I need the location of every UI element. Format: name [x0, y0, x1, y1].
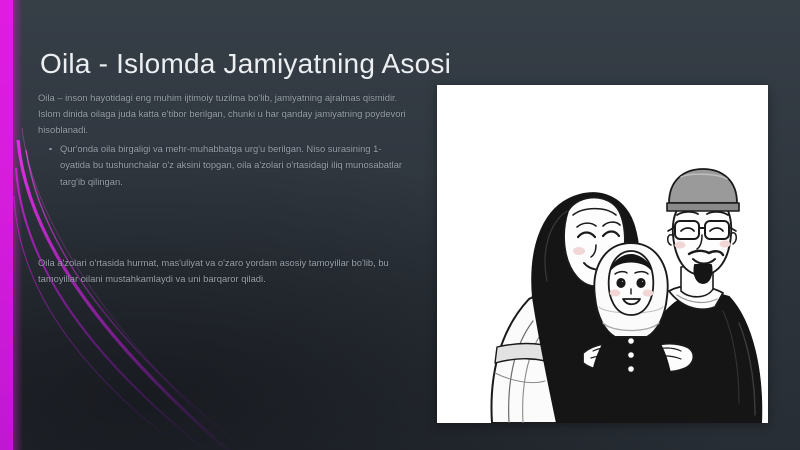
intro-paragraph: Oila – inson hayotidagi eng muhim ijtimo… [38, 90, 406, 139]
closing-paragraph: Oila a'zolari o'rtasida hurmat, mas'uliy… [38, 255, 406, 287]
bullet-list: Qur'onda oila birgaligi va mehr-muhabbat… [38, 141, 406, 191]
accent-edge-bar [0, 0, 13, 450]
body-text-column: Oila – inson hayotidagi eng muhim ijtimo… [38, 90, 406, 287]
list-item: Qur'onda oila birgaligi va mehr-muhabbat… [60, 141, 406, 191]
presentation-slide: Oila - Islomda Jamiyatning Asosi Oila – … [0, 0, 800, 450]
muslim-family-illustration [437, 85, 768, 423]
family-illustration-frame [437, 85, 768, 423]
page-title: Oila - Islomda Jamiyatning Asosi [40, 47, 680, 81]
accent-edge-glow [13, 0, 23, 450]
